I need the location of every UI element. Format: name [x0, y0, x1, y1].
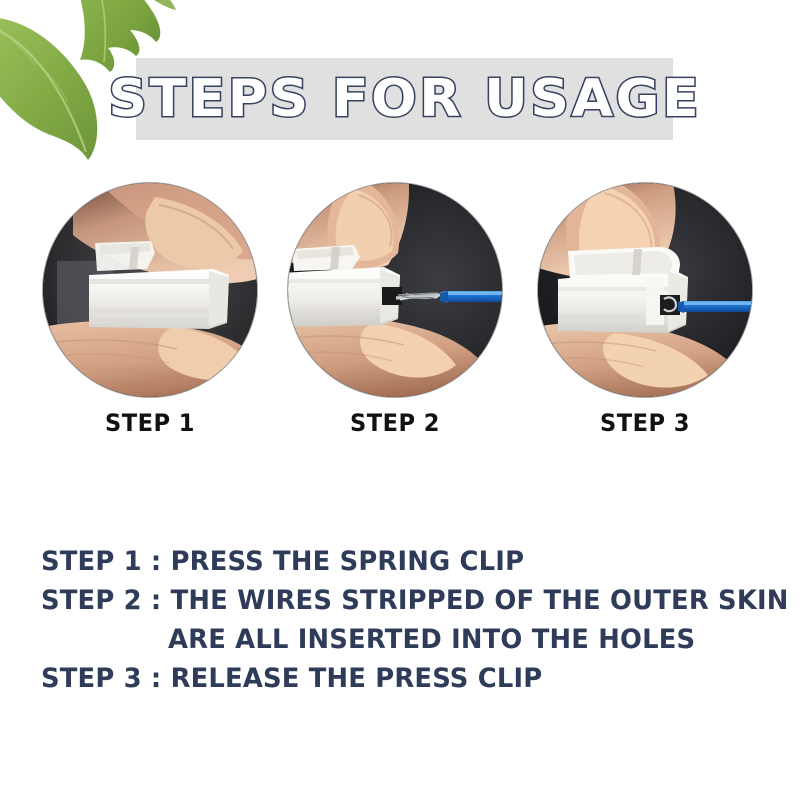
poster-root: STEPS FOR USAGE: [0, 0, 800, 800]
instruction-line-3: ARE ALL INSERTED INTO THE HOLES: [41, 620, 752, 659]
instructions-block: STEP 1 : PRESS THE SPRING CLIP STEP 2 : …: [41, 542, 786, 698]
page-title: STEPS FOR USAGE: [108, 73, 701, 125]
step-caption-2: STEP 2: [294, 409, 495, 437]
step-images-row: [0, 183, 800, 399]
blue-wire: [678, 301, 752, 313]
instruction-line-4: STEP 3 : RELEASE THE PRESS CLIP: [41, 659, 752, 698]
step-photo-2: [288, 183, 502, 397]
instruction-line-2: STEP 2 : THE WIRES STRIPPED OF THE OUTER…: [41, 581, 752, 620]
spring-clip-connector: [558, 247, 688, 333]
step-captions-row: STEP 1 STEP 2 STEP 3: [0, 409, 800, 443]
connector-press-illustration: [43, 183, 257, 397]
wire-insert-illustration: [288, 183, 502, 397]
step-caption-1: STEP 1: [49, 409, 250, 437]
leaf-shape-main: [0, 17, 97, 160]
step-caption-3: STEP 3: [544, 409, 745, 437]
step-photo-3: [538, 183, 752, 397]
instruction-line-1: STEP 1 : PRESS THE SPRING CLIP: [41, 542, 752, 581]
title-band: STEPS FOR USAGE: [136, 58, 673, 140]
clip-released-illustration: [538, 183, 752, 397]
step-photo-1: [43, 183, 257, 397]
